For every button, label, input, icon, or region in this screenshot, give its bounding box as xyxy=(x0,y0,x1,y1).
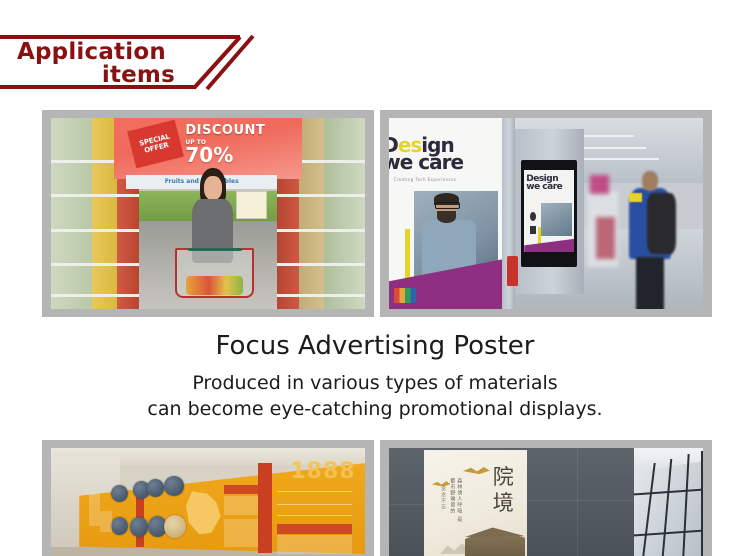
shopper-figure xyxy=(189,168,236,283)
kiosk-purple-band xyxy=(524,239,574,252)
kiosk-title: Design we care xyxy=(526,175,562,191)
walking-person xyxy=(625,171,678,309)
walker-legs xyxy=(636,257,664,309)
chinese-wall-poster: 院 境 森林诱人呼吸 是都市野难意的 念念不忘 xyxy=(424,450,528,556)
exhibit-text-block xyxy=(224,496,259,515)
exhibit-year-label: 1888 xyxy=(290,459,355,484)
image-frame-exhibition: 1888 xyxy=(42,440,374,556)
cart-groceries xyxy=(186,276,243,294)
banner-title-line-2: items xyxy=(0,62,175,88)
exhibit-rule xyxy=(277,515,352,516)
kiosk-logo-secondary-icon xyxy=(530,226,536,234)
kiosk-logo-icon xyxy=(530,212,536,220)
discount-percent: 70% xyxy=(185,146,289,164)
exhibit-red-box xyxy=(277,524,352,535)
walker-yellow-detail xyxy=(629,193,642,201)
shopper-face xyxy=(204,176,222,200)
wall-poster-design-we-care: Design we care Creating Tech Experiences xyxy=(389,118,502,309)
wall-seam xyxy=(527,500,634,501)
window-mullion xyxy=(701,451,703,556)
corridor-stone-wall xyxy=(527,448,634,556)
exhibit-text-block xyxy=(89,493,100,525)
kiosk-portrait xyxy=(541,203,572,236)
poster-color-swatches xyxy=(394,288,417,303)
kiosk-screen[interactable]: Design we care xyxy=(524,170,574,252)
exhibit-text-block xyxy=(100,511,113,533)
caption-block: Focus Advertising Poster Produced in var… xyxy=(0,330,750,422)
cart-handle xyxy=(188,248,242,252)
caption-heading: Focus Advertising Poster xyxy=(0,330,750,362)
poster-divider xyxy=(497,498,513,499)
background-signage xyxy=(590,175,609,194)
image-frame-signage: Design we care Creating Tech Experiences xyxy=(380,110,712,317)
walker-backpack xyxy=(647,193,676,254)
exhibit-disc xyxy=(164,476,184,495)
section-header-banner: Application items xyxy=(0,0,750,100)
kiosk-title-sub: we care xyxy=(526,182,562,192)
photo-exhibition-wall: 1888 xyxy=(51,448,365,556)
portrait-beard xyxy=(437,211,455,223)
shopping-cart xyxy=(175,248,254,298)
poster-title: Design we care xyxy=(389,137,507,171)
kiosk-yellow-accent xyxy=(538,227,540,245)
poster-subtitle: Creating Tech Experiences xyxy=(394,177,457,182)
photo-supermarket-aisle: SPECIAL OFFER DISCOUNT UP TO 70% Fruits … xyxy=(51,118,365,309)
poster-main-characters: 院 境 xyxy=(493,464,515,516)
exhibit-rule xyxy=(277,491,352,492)
photo-digital-signage-corridor: Design we care Creating Tech Experiences xyxy=(389,118,703,309)
photo-chinese-poster-corridor: 院 境 森林诱人呼吸 是都市野难意的 念念不忘 xyxy=(389,448,703,556)
exhibit-panel-red xyxy=(258,463,272,553)
discount-headline-group: DISCOUNT UP TO 70% xyxy=(185,123,289,164)
exhibit-text-block xyxy=(224,519,259,547)
wall-seam xyxy=(577,448,578,556)
poster-char-2: 境 xyxy=(493,491,515,515)
poster-vertical-text: 森林诱人呼吸 是都市野难意的 xyxy=(448,478,462,527)
poster-char-1: 院 xyxy=(493,465,515,489)
image-frame-chinese-poster: 院 境 森林诱人呼吸 是都市野难意的 念念不忘 xyxy=(380,440,712,556)
walker-head xyxy=(642,171,658,190)
crane-icon xyxy=(463,465,490,478)
fire-extinguisher-icon xyxy=(507,256,518,287)
digital-signage-kiosk[interactable]: Design we care xyxy=(521,160,578,267)
exhibit-disc xyxy=(111,485,128,502)
image-frame-supermarket: SPECIAL OFFER DISCOUNT UP TO 70% Fruits … xyxy=(42,110,374,317)
caption-line-1: Produced in various types of materials xyxy=(0,370,750,396)
shelf-poster xyxy=(236,191,266,220)
exhibit-text-block xyxy=(277,535,352,553)
exhibit-disc xyxy=(164,515,186,538)
distant-shopper xyxy=(596,217,615,259)
exhibit-rule xyxy=(277,504,352,505)
portrait-glasses-icon xyxy=(435,202,460,209)
caption-line-2: can become eye-catching promotional disp… xyxy=(0,396,750,422)
poster-pavilion-roof xyxy=(465,527,525,537)
poster-vertical-text-secondary: 念念不忘 xyxy=(440,486,447,518)
special-offer-badge: SPECIAL OFFER xyxy=(127,120,184,169)
discount-headline: DISCOUNT xyxy=(185,123,289,138)
poster-title-line2: we care xyxy=(389,150,463,174)
exhibit-disc xyxy=(147,479,164,496)
exhibit-red-box xyxy=(224,485,259,495)
exhibit-disc xyxy=(130,517,149,536)
